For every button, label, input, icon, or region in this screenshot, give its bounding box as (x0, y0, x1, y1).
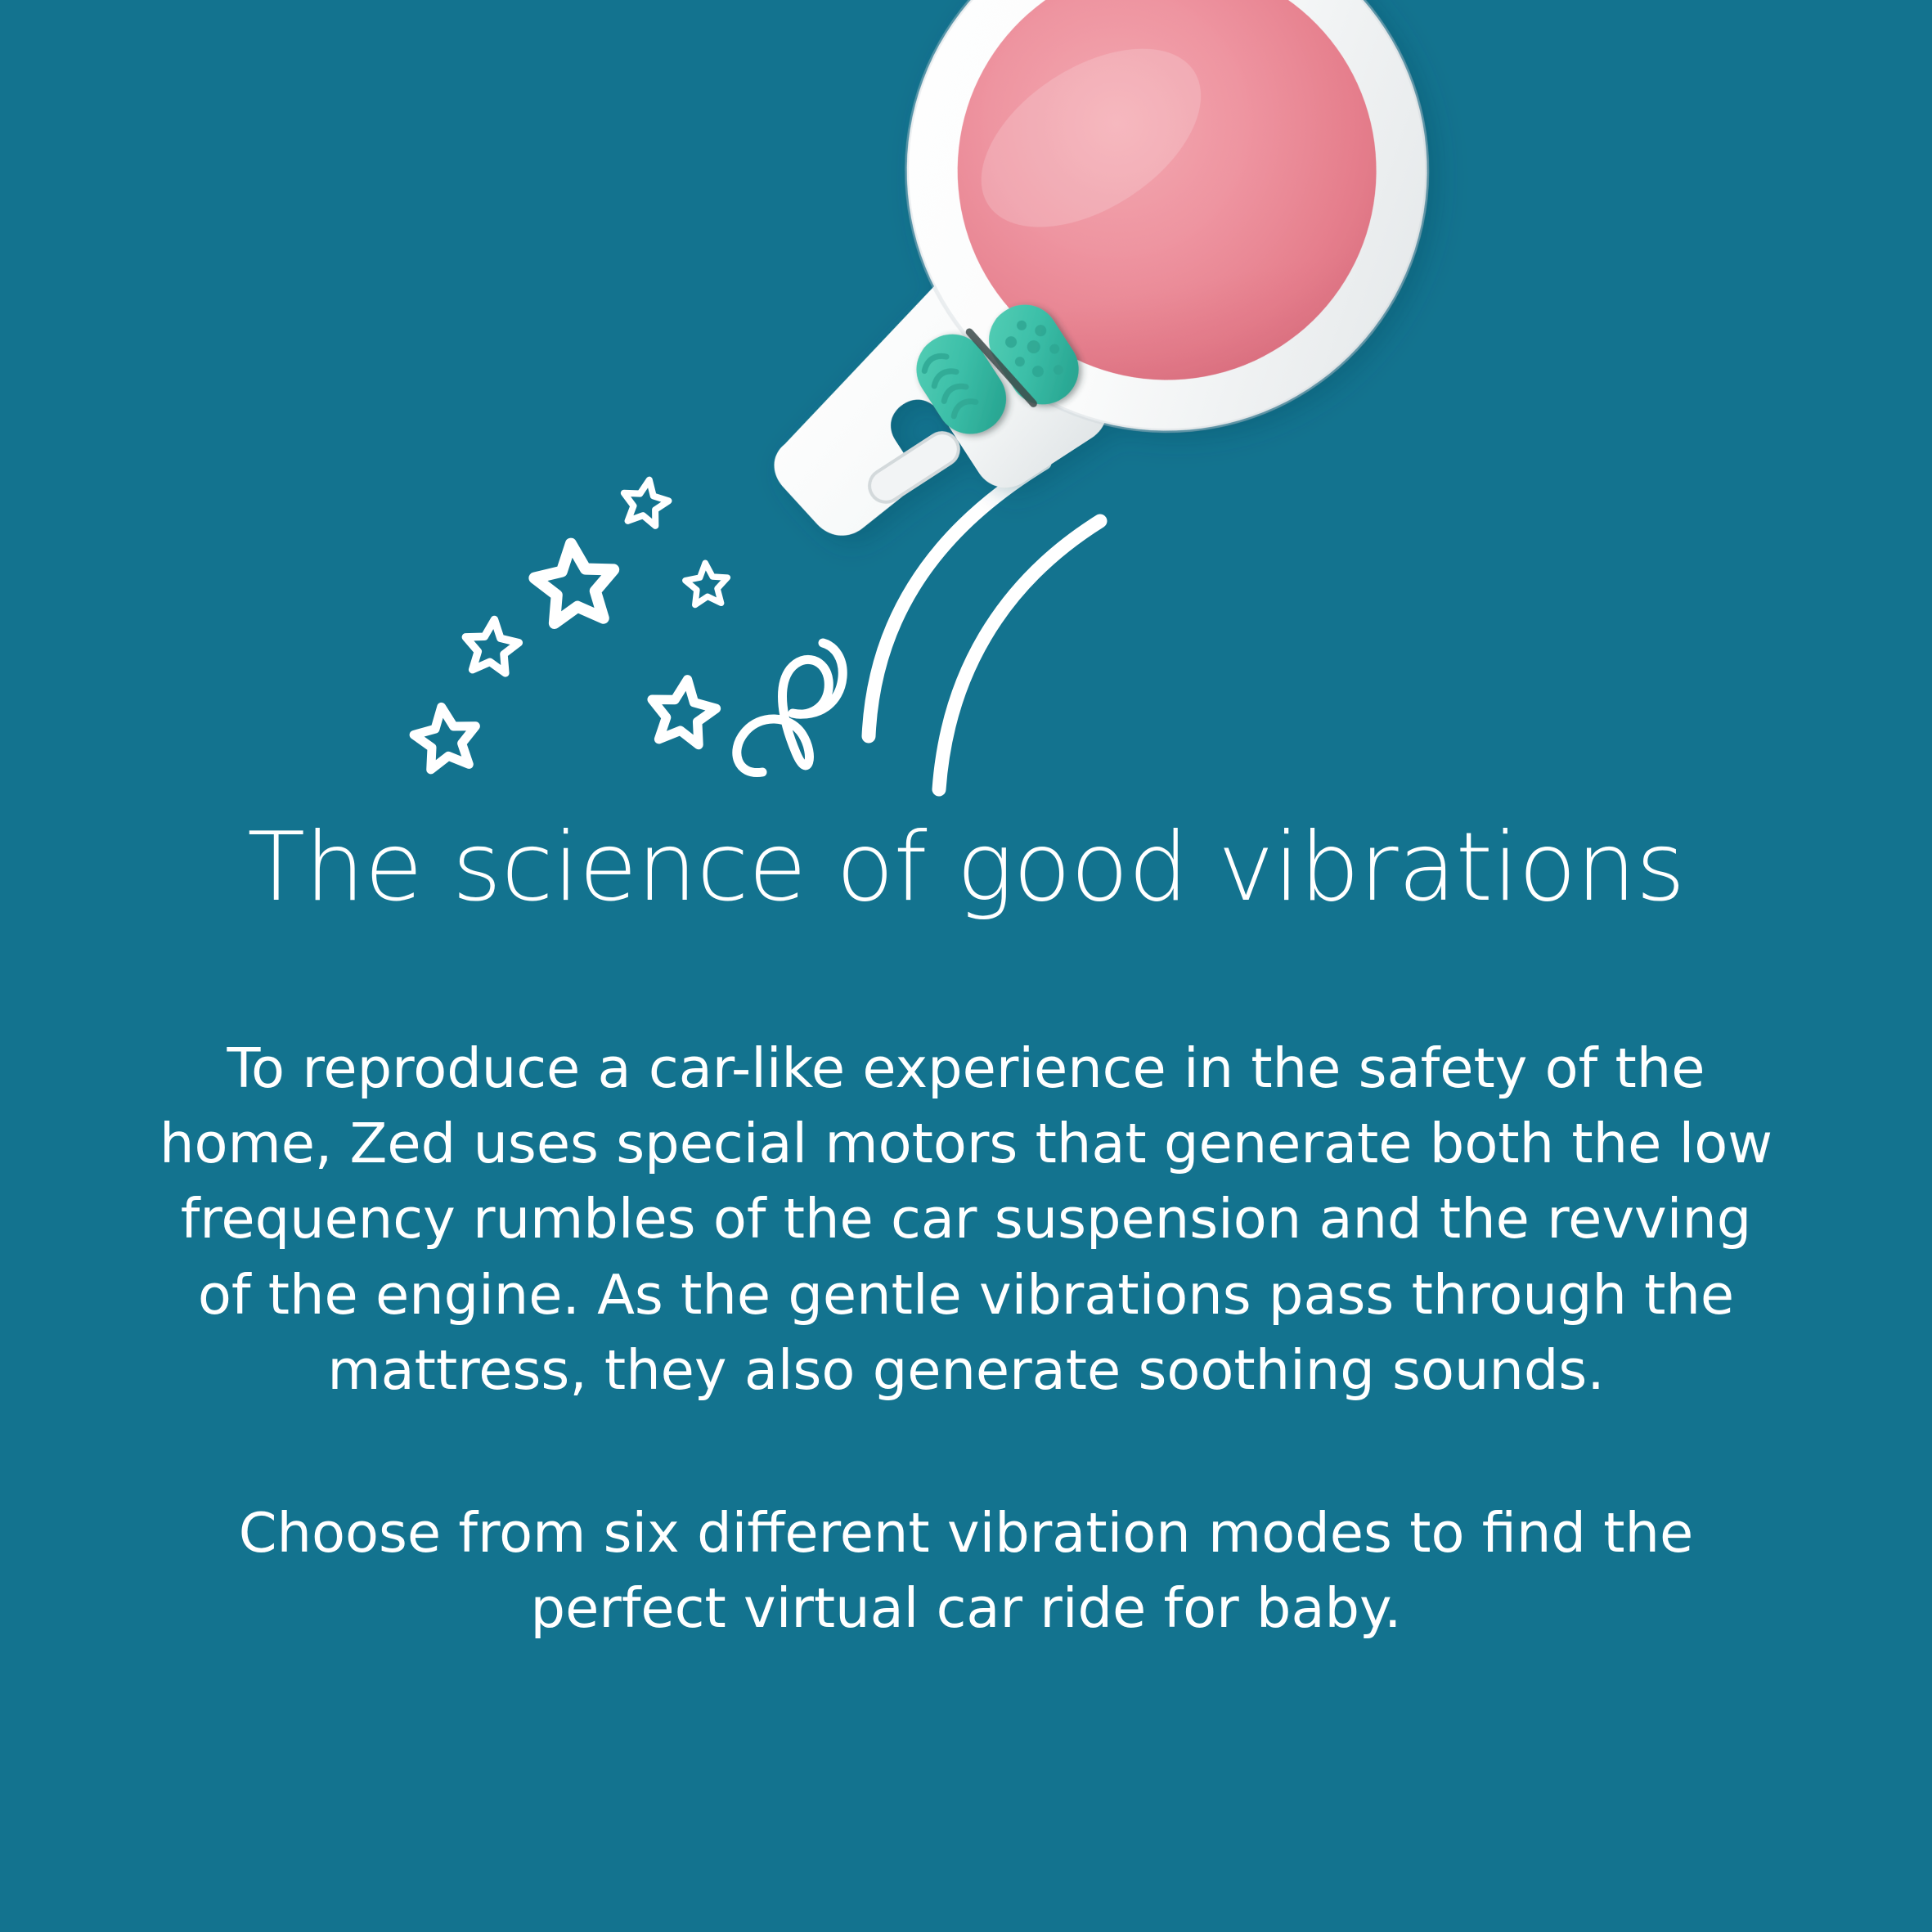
star-small-top-icon (619, 476, 672, 528)
content-block: The science of good vibrations To reprod… (0, 810, 1932, 1647)
product-device (610, 0, 1526, 658)
body-paragraph-one: To reproduce a car-like experience in th… (152, 1031, 1780, 1409)
star-small-lower-left-icon (411, 703, 481, 771)
hero-graphic (0, 0, 1932, 810)
motion-trail-inner (939, 521, 1100, 789)
star-medium-right-icon (647, 675, 720, 746)
loop-squiggle-icon (737, 643, 842, 773)
body-paragraph-two: Choose from six different vibration mode… (152, 1495, 1780, 1647)
promo-card: The science of good vibrations To reprod… (0, 0, 1932, 1932)
page-title: The science of good vibrations (0, 810, 1932, 926)
star-small-right-icon (684, 561, 729, 605)
star-large-center-icon (532, 540, 619, 625)
star-small-left-icon (462, 617, 521, 674)
hero-illustration (0, 0, 1932, 810)
